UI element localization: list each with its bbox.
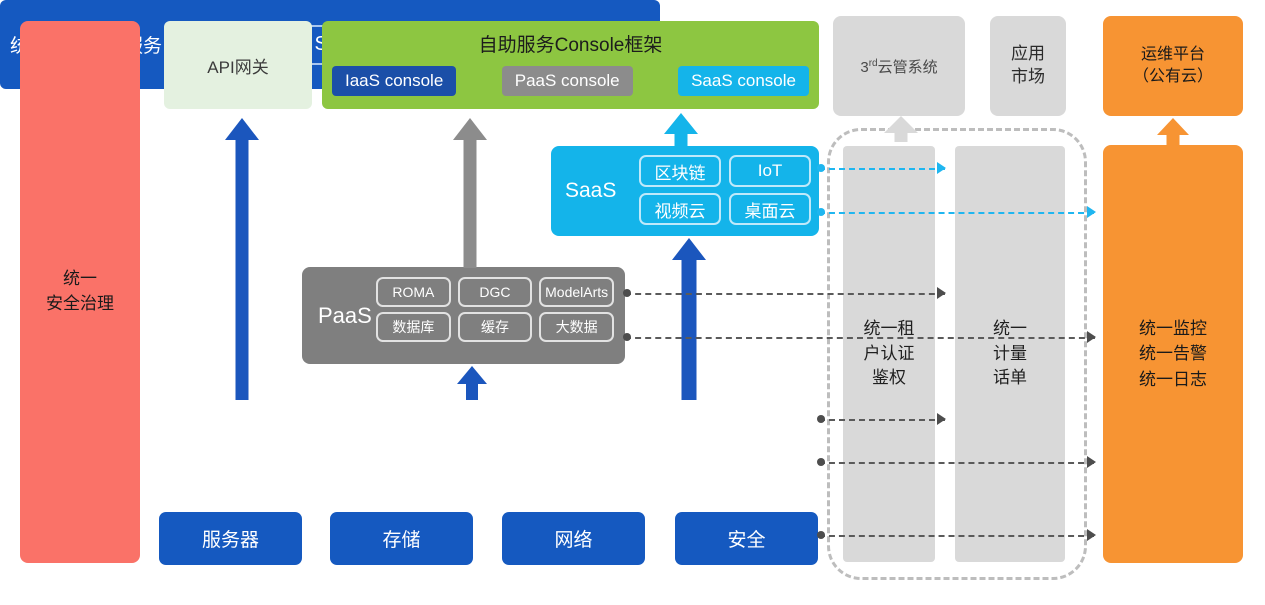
third-cloud-superscript: rd [869,58,878,69]
security-line-2: 安全治理 [46,292,114,317]
hardware-box-server[interactable]: 服务器 [159,512,302,565]
paas-tag-roma[interactable]: ROMA [376,277,451,307]
ops-platform-line-2: （公有云） [1133,66,1213,88]
security-governance-pillar: 统一 安全治理 [20,21,140,563]
console-framework-box: 自助服务Console框架 IaaS console PaaS console … [322,21,819,109]
arrow-infra-to-saas [672,238,706,400]
architecture-diagram: 统一 安全治理 API网关 自助服务Console框架 IaaS console… [0,0,1265,605]
saas-tag-desktop-cloud[interactable]: 桌面云 [729,193,811,225]
arrowhead-hardware-to-ops [1087,529,1096,541]
saas-layer-box: SaaS 区块链 IoT 视频云 桌面云 [551,146,819,236]
ops-service-line-3: 统一日志 [1139,367,1207,393]
api-gateway-box: API网关 [164,21,312,109]
paas-tag-modelarts[interactable]: ModelArts [539,277,614,307]
paas-tag-dgc[interactable]: DGC [458,277,533,307]
saas-console-label: SaaS console [691,71,796,91]
meter-line-3: 话单 [993,366,1027,391]
saas-console-chip[interactable]: SaaS console [678,66,809,96]
hardware-box-security[interactable]: 安全 [675,512,818,565]
dot-hardware-ops-origin [817,531,825,539]
dashed-hardware-to-ops [819,535,1094,537]
arrowhead-infra-to-ops [1087,456,1096,468]
ops-platform-line-1: 运维平台 [1133,44,1213,66]
paas-tag-grid: ROMA DGC ModelArts 数据库 缓存 大数据 [376,277,614,342]
saas-tag-grid: 区块链 IoT 视频云 桌面云 [639,155,811,225]
arrow-infra-to-api-gateway [225,118,259,400]
paas-tag-bigdata[interactable]: 大数据 [539,312,614,342]
auth-line-3: 鉴权 [864,366,915,391]
dot-infra-auth-origin [817,415,825,423]
arrowhead-infra-to-auth [937,413,946,425]
meter-line-2: 计量 [993,342,1027,367]
paas-layer-box: PaaS ROMA DGC ModelArts 数据库 缓存 大数据 [302,267,625,364]
dashed-saas-to-auth [819,168,945,170]
unified-tenant-auth-column: 统一租 户认证 鉴权 [843,146,935,562]
arrowhead-saas-to-ops [1087,206,1096,218]
arrow-ops-pillar-to-platform [1156,118,1190,146]
saas-layer-label: SaaS [565,179,616,203]
arrow-to-third-party-cloud [884,116,918,142]
app-market-line-1: 应用 [1011,43,1045,66]
arrowhead-saas-to-auth [937,162,946,174]
dashed-infra-to-ops [819,462,1094,464]
saas-tag-video-cloud[interactable]: 视频云 [639,193,721,225]
iaas-console-chip[interactable]: IaaS console [332,66,456,96]
iaas-console-label: IaaS console [345,71,443,91]
dot-paas-auth-origin [623,289,631,297]
ops-service-line-2: 统一告警 [1139,341,1207,367]
unified-metering-billing-column: 统一 计量 话单 [955,146,1065,562]
dot-saas-auth-origin [817,164,825,172]
dot-saas-ops-origin [817,208,825,216]
dashed-paas-to-auth [625,293,945,295]
arrowhead-paas-to-ops [1087,331,1096,343]
paas-tag-cache[interactable]: 缓存 [458,312,533,342]
saas-tag-iot[interactable]: IoT [729,155,811,187]
dashed-infra-to-auth [819,419,945,421]
api-gateway-label: API网关 [207,53,268,78]
saas-tag-blockchain[interactable]: 区块链 [639,155,721,187]
arrow-saas-to-console [664,113,698,147]
arrow-paas-to-console [453,118,487,268]
third-cloud-label: 3rd云管系统 [860,56,937,77]
hardware-box-network[interactable]: 网络 [502,512,645,565]
third-party-cloud-management-box: 3rd云管系统 [833,16,965,116]
console-chip-row: IaaS console PaaS console SaaS console [332,65,809,97]
paas-console-label: PaaS console [515,71,620,91]
auth-line-2: 户认证 [864,342,915,367]
ops-platform-box: 运维平台 （公有云） [1103,16,1243,116]
hardware-box-storage[interactable]: 存储 [330,512,473,565]
ops-services-pillar: 统一监控 统一告警 统一日志 [1103,145,1243,563]
app-market-box: 应用 市场 [990,16,1066,116]
dashed-paas-to-ops [625,337,1095,339]
security-line-1: 统一 [46,267,114,292]
arrow-infra-to-paas [457,366,487,400]
console-framework-title: 自助服务Console框架 [322,30,819,57]
arrowhead-paas-to-auth [937,287,946,299]
paas-tag-database[interactable]: 数据库 [376,312,451,342]
dashed-saas-to-ops [819,212,1094,214]
ops-service-line-1: 统一监控 [1139,316,1207,342]
paas-console-chip[interactable]: PaaS console [502,66,633,96]
dot-infra-ops-origin [817,458,825,466]
dot-paas-ops-origin [623,333,631,341]
paas-layer-label: PaaS [318,303,372,329]
app-market-line-2: 市场 [1011,66,1045,89]
